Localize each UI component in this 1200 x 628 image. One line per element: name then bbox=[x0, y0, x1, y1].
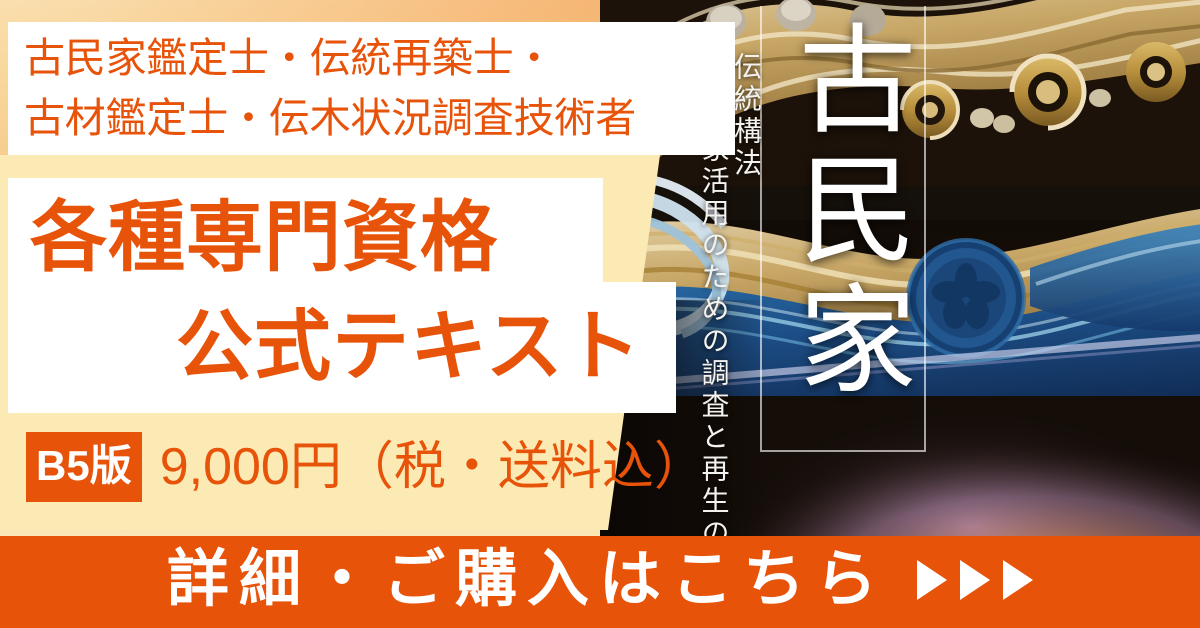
headline-panel-1: 各種専門資格 bbox=[8, 178, 603, 298]
certifications-line-1: 古民家鑑定士・伝統再築士・ bbox=[24, 29, 735, 88]
triangle-right-icon bbox=[960, 560, 990, 600]
headline-panel-2: 公式テキスト bbox=[8, 282, 676, 413]
cta-arrows bbox=[917, 560, 1033, 600]
cta-label: 詳細・ご購入はこちら bbox=[167, 549, 887, 611]
cta-bar[interactable]: 詳細・ご購入はこちら bbox=[0, 536, 1200, 628]
triangle-right-icon bbox=[917, 560, 947, 600]
headline-line-2: 公式テキスト bbox=[176, 309, 642, 386]
certifications-panel: 古民家鑑定士・伝統再築士・ 古材鑑定士・伝木状況調査技術者 bbox=[8, 22, 735, 155]
promo-banner: 古民家 伝統構法 古民家活用のための調査と再生の 古民家鑑定士・伝統再築士・ 古… bbox=[0, 0, 1200, 628]
certifications-line-2: 古材鑑定士・伝木状況調査技術者 bbox=[24, 89, 735, 148]
book-cover-title: 古民家 bbox=[775, 18, 915, 408]
triangle-right-icon bbox=[1003, 560, 1033, 600]
format-badge: B5版 bbox=[26, 432, 142, 502]
price-row: B5版 9,000円（税・送料込） bbox=[0, 424, 700, 510]
headline-line-1: 各種専門資格 bbox=[30, 200, 498, 277]
price-amount: 9,000円（税・送料込） bbox=[160, 441, 706, 493]
